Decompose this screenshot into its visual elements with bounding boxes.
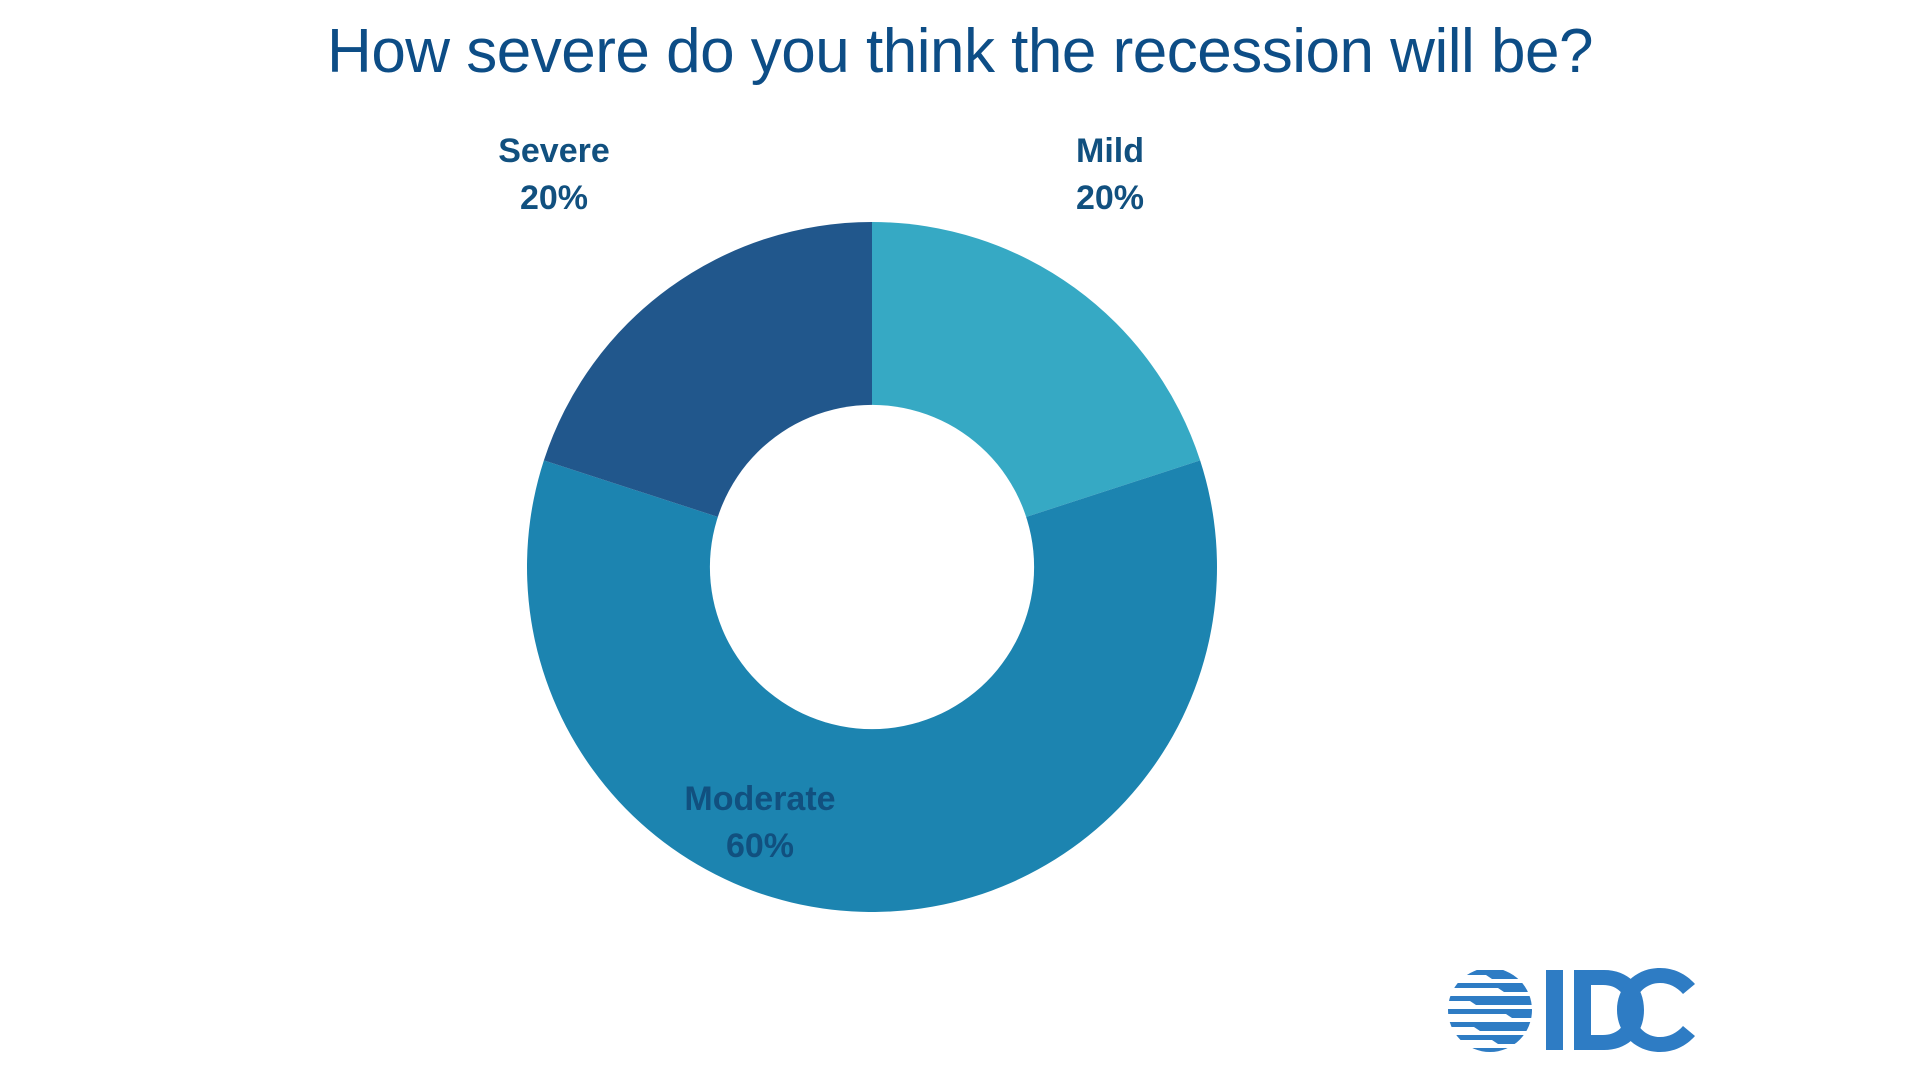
data-label-moderate-name: Moderate bbox=[600, 776, 920, 823]
idc-logo bbox=[1446, 962, 1698, 1058]
data-label-mild-name: Mild bbox=[1000, 128, 1220, 175]
data-label-mild: Mild 20% bbox=[1000, 128, 1220, 222]
slide-canvas: How severe do you think the recession wi… bbox=[0, 0, 1920, 1080]
idc-wordmark bbox=[1546, 968, 1695, 1052]
idc-logo-svg bbox=[1446, 962, 1698, 1058]
data-label-severe: Severe 20% bbox=[444, 128, 664, 222]
donut-center-hole bbox=[710, 405, 1034, 729]
striped-globe-icon bbox=[1446, 970, 1536, 1055]
data-label-moderate-value: 60% bbox=[600, 823, 920, 870]
data-label-severe-value: 20% bbox=[444, 175, 664, 222]
page-title: How severe do you think the recession wi… bbox=[0, 18, 1920, 86]
data-label-severe-name: Severe bbox=[444, 128, 664, 175]
data-label-mild-value: 20% bbox=[1000, 175, 1220, 222]
data-label-moderate: Moderate 60% bbox=[600, 776, 920, 870]
